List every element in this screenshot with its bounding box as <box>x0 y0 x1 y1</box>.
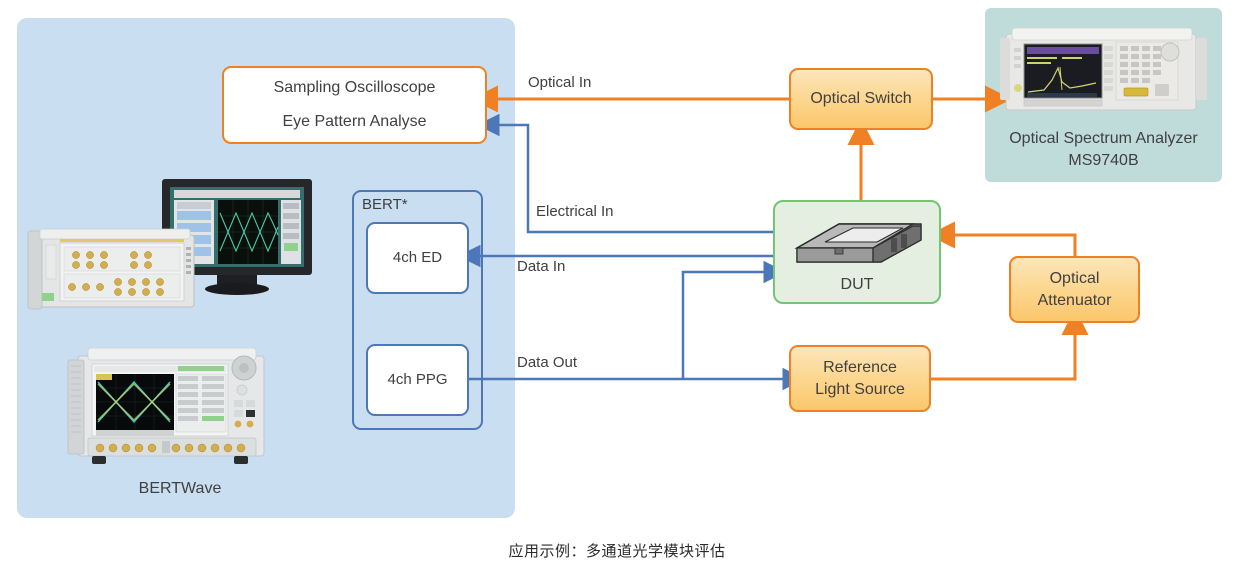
bert-group-label: BERT* <box>362 196 408 213</box>
diagram-caption: 应用示例：多通道光学模块评估 <box>0 540 1234 561</box>
scope-line1: Sampling Oscilloscope <box>274 77 436 99</box>
label-optical-in: Optical In <box>528 74 591 91</box>
ppg-label: 4ch PPG <box>387 370 447 390</box>
4ch-ed-box[interactable]: 4ch ED <box>366 222 469 294</box>
4ch-ppg-box[interactable]: 4ch PPG <box>366 344 469 416</box>
optical-switch-label: Optical Switch <box>810 88 911 110</box>
reference-line2: Light Source <box>815 379 905 401</box>
optical-attenuator-box[interactable]: Optical Attenuator <box>1009 256 1140 323</box>
attenuator-line1: Optical <box>1050 268 1100 290</box>
ed-label: 4ch ED <box>393 248 442 268</box>
diagram-canvas: Sampling Oscilloscope Eye Pattern Analys… <box>0 0 1234 570</box>
osa-caption-line2: MS9740B <box>1068 152 1138 169</box>
optical-switch-box[interactable]: Optical Switch <box>789 68 933 130</box>
label-data-in: Data In <box>517 258 565 275</box>
dut-label: DUT <box>773 276 941 294</box>
reference-light-source-box[interactable]: Reference Light Source <box>789 345 931 412</box>
label-data-out: Data Out <box>517 354 577 371</box>
osa-caption: Optical Spectrum Analyzer MS9740B <box>985 128 1222 171</box>
sampling-oscilloscope-photo <box>20 175 320 325</box>
label-electrical-in: Electrical In <box>536 203 614 220</box>
sampling-oscilloscope-box[interactable]: Sampling Oscilloscope Eye Pattern Analys… <box>222 66 487 144</box>
bertwave-caption: BERTWave <box>55 478 305 500</box>
dut-module-icon <box>791 212 927 270</box>
osa-caption-line1: Optical Spectrum Analyzer <box>1009 130 1198 147</box>
bertwave-photo <box>58 342 288 474</box>
optical-spectrum-analyzer-photo <box>1000 20 1208 124</box>
attenuator-line2: Attenuator <box>1038 290 1112 312</box>
scope-line2: Eye Pattern Analyse <box>282 111 426 133</box>
reference-line1: Reference <box>823 357 897 379</box>
